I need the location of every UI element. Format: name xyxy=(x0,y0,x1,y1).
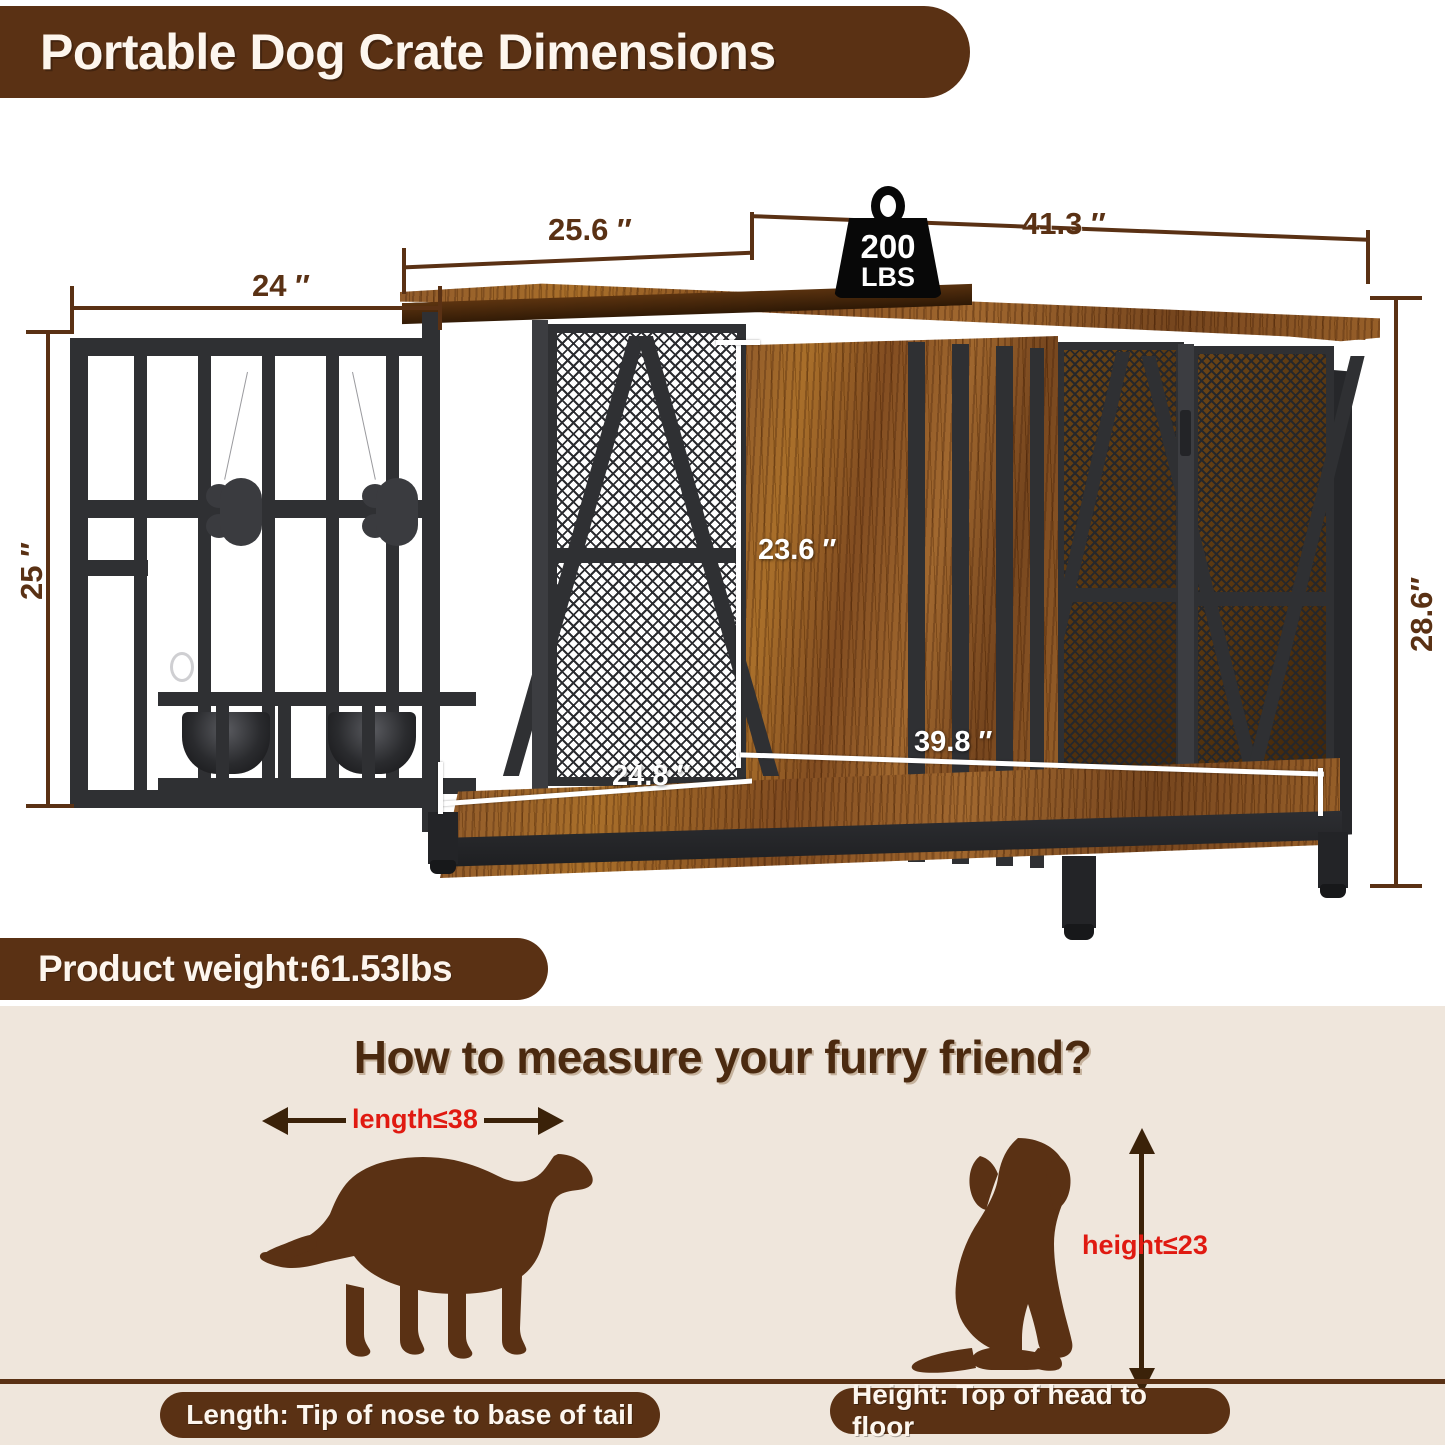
dog-crate-illustration: 24 ″ 25 ″ 25.6 ″ 41.3 ″ 28.6″ 23.6 ″ 24.… xyxy=(0,0,1445,1006)
ground-line-left xyxy=(0,1379,724,1384)
interior-height-line xyxy=(736,340,741,768)
length-arrow-head-left xyxy=(262,1106,288,1136)
bone-tag-right xyxy=(362,478,418,546)
product-weight-label: Product weight:61.53lbs xyxy=(38,948,452,990)
leader-door-height-tick-bottom xyxy=(26,804,74,808)
weight-capacity-unit: LBS xyxy=(828,264,948,291)
crate-leg-front-left xyxy=(428,812,458,864)
leader-overall-height-tick-bottom xyxy=(1370,884,1422,888)
leader-overall-height-line xyxy=(1394,296,1398,888)
dim-interior-depth-label: 24.8 ″ xyxy=(612,760,690,793)
leader-door-width-line xyxy=(70,306,442,310)
mesh-frame-center xyxy=(548,324,746,786)
bowl-rack-bar-d xyxy=(424,700,437,784)
door-latch xyxy=(1180,410,1191,456)
dim-top-width-label: 41.3 ″ xyxy=(1022,206,1106,242)
length-arrow-head-right xyxy=(538,1106,564,1136)
door-rail-lower xyxy=(88,560,148,576)
bone-tag-left xyxy=(206,478,262,546)
bowl-rack-bar-b xyxy=(278,700,291,784)
height-limit-label: height≤23 xyxy=(1082,1230,1208,1261)
dim-interior-height-label: 23.6 ″ xyxy=(758,534,836,567)
dim-door-height-label: 25 ″ xyxy=(14,542,50,600)
dim-top-depth-label: 25.6 ″ xyxy=(548,212,632,248)
infographic-page: Portable Dog Crate Dimensions xyxy=(0,0,1445,1445)
bone-tag-chain-left xyxy=(224,372,248,480)
leader-door-width-tick-left xyxy=(70,286,74,330)
bowl-rack-bar-c xyxy=(362,700,375,784)
length-limit-label: length≤38 xyxy=(346,1104,484,1135)
length-caption: Length: Tip of nose to base of tail xyxy=(160,1392,660,1438)
crate-leg-right xyxy=(1318,832,1348,888)
bar-center-edge xyxy=(532,320,548,790)
leader-door-width-tick-right xyxy=(438,286,442,330)
interior-height-tick-top xyxy=(716,340,760,345)
crate-foot-center xyxy=(1064,924,1094,940)
crate-foot-right xyxy=(1320,884,1346,898)
standing-dog-icon xyxy=(258,1142,598,1372)
weight-capacity-badge: 200 LBS xyxy=(828,186,948,298)
dim-interior-width-label: 39.8 ″ xyxy=(914,726,992,759)
height-arrow-head-top xyxy=(1128,1128,1156,1154)
product-weight-banner: Product weight:61.53lbs xyxy=(0,938,548,1000)
leader-top-depth-tick-left xyxy=(402,248,406,294)
leader-door-height-tick-top xyxy=(26,330,74,334)
height-arrow-shaft xyxy=(1139,1140,1144,1390)
dim-overall-height-label: 28.6″ xyxy=(1404,577,1440,652)
door-latch-ring xyxy=(170,652,194,682)
measure-section-heading: How to measure your furry friend? xyxy=(0,1030,1445,1084)
leader-top-depth-tick-right xyxy=(750,212,754,260)
door-frame-top xyxy=(70,338,440,356)
bowl-rack-bar-a xyxy=(216,700,229,784)
crate-foot-front-left xyxy=(430,860,456,874)
leader-overall-height-tick-top xyxy=(1370,296,1422,300)
crate-leg-center xyxy=(1062,856,1096,928)
leader-top-width-tick-right xyxy=(1366,230,1370,284)
bone-tag-chain-right xyxy=(352,372,376,480)
interior-width-tick-right xyxy=(1318,768,1323,816)
weight-capacity-value: 200 xyxy=(828,230,948,263)
leader-top-depth-line xyxy=(404,251,754,270)
height-caption: Height: Top of head to floor xyxy=(830,1388,1230,1434)
interior-depth-tick-left xyxy=(438,762,443,814)
dim-door-width-label: 24 ″ xyxy=(252,268,310,304)
door-frame-left xyxy=(70,338,88,808)
